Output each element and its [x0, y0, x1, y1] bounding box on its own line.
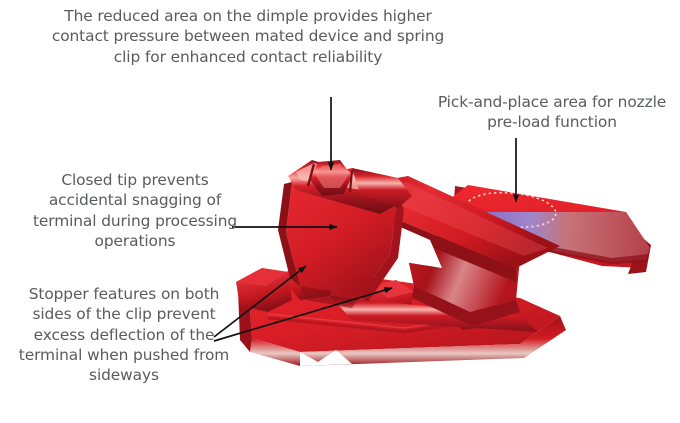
- spring-arm-window: [378, 218, 442, 268]
- stopper-mid: [288, 262, 336, 300]
- base-plate-front-face: [250, 316, 566, 366]
- rear-fold-inner-gap: [556, 242, 634, 258]
- callout-pick-and-place-text: Pick-and-place area for nozzle pre-load …: [432, 92, 672, 133]
- arm-root-knuckle: [352, 168, 412, 208]
- pick-and-place-pad: [433, 185, 650, 262]
- stopper-right: [368, 280, 414, 318]
- closed-tip-roll-highlight: [296, 163, 388, 194]
- spring-arm-beam-underside: [364, 206, 516, 282]
- callout-stopper-text: Stopper features on both sides of the cl…: [10, 284, 238, 386]
- dimple-crease-right: [350, 170, 352, 192]
- pad-dotted-circle-marker: [465, 189, 558, 231]
- base-plate-top: [248, 268, 560, 352]
- base-plate-ridge: [268, 318, 470, 332]
- leader-stopper-lower: [214, 288, 392, 341]
- rear-fold-outer-roll: [604, 212, 651, 274]
- dimple: [310, 160, 352, 196]
- diagram-canvas: The reduced area on the dimple provides …: [0, 0, 680, 423]
- leader-lines: [214, 97, 516, 341]
- pad-front-bevel-shadow: [455, 229, 648, 264]
- tip-contact-shadow: [300, 286, 360, 308]
- pad-front-bevel: [433, 212, 650, 262]
- callout-closed-tip-text: Closed tip prevents accidental snagging …: [30, 170, 240, 251]
- support-bracket-face: [412, 286, 520, 326]
- folded-rear-edge: [452, 186, 648, 268]
- stopper-mid-top: [292, 262, 336, 278]
- callout-dimple-text: The reduced area on the dimple provides …: [48, 6, 448, 67]
- stopper-left-top: [236, 268, 288, 286]
- closed-tip-roll: [288, 160, 402, 214]
- spring-arm-beam-highlight: [368, 182, 548, 256]
- spring-arm-leaf: [286, 168, 398, 296]
- spring-arm-leaf-left-edge: [278, 182, 300, 286]
- stopper-left: [236, 268, 292, 312]
- spring-arm-beam: [352, 176, 560, 268]
- support-bracket: [406, 226, 520, 312]
- dimple-crease-left: [308, 164, 314, 186]
- stopper-right-top: [372, 280, 414, 298]
- base-plate-ridge-highlight: [268, 314, 470, 328]
- dimple-highlight: [316, 164, 348, 188]
- stopper-far-right: [448, 292, 498, 330]
- base-plate-notch: [300, 350, 352, 366]
- spring-arm-leaf-shade: [360, 196, 404, 302]
- model-group: [236, 160, 651, 366]
- base-front-roll: [330, 296, 538, 332]
- base-plate-left-face: [238, 282, 252, 352]
